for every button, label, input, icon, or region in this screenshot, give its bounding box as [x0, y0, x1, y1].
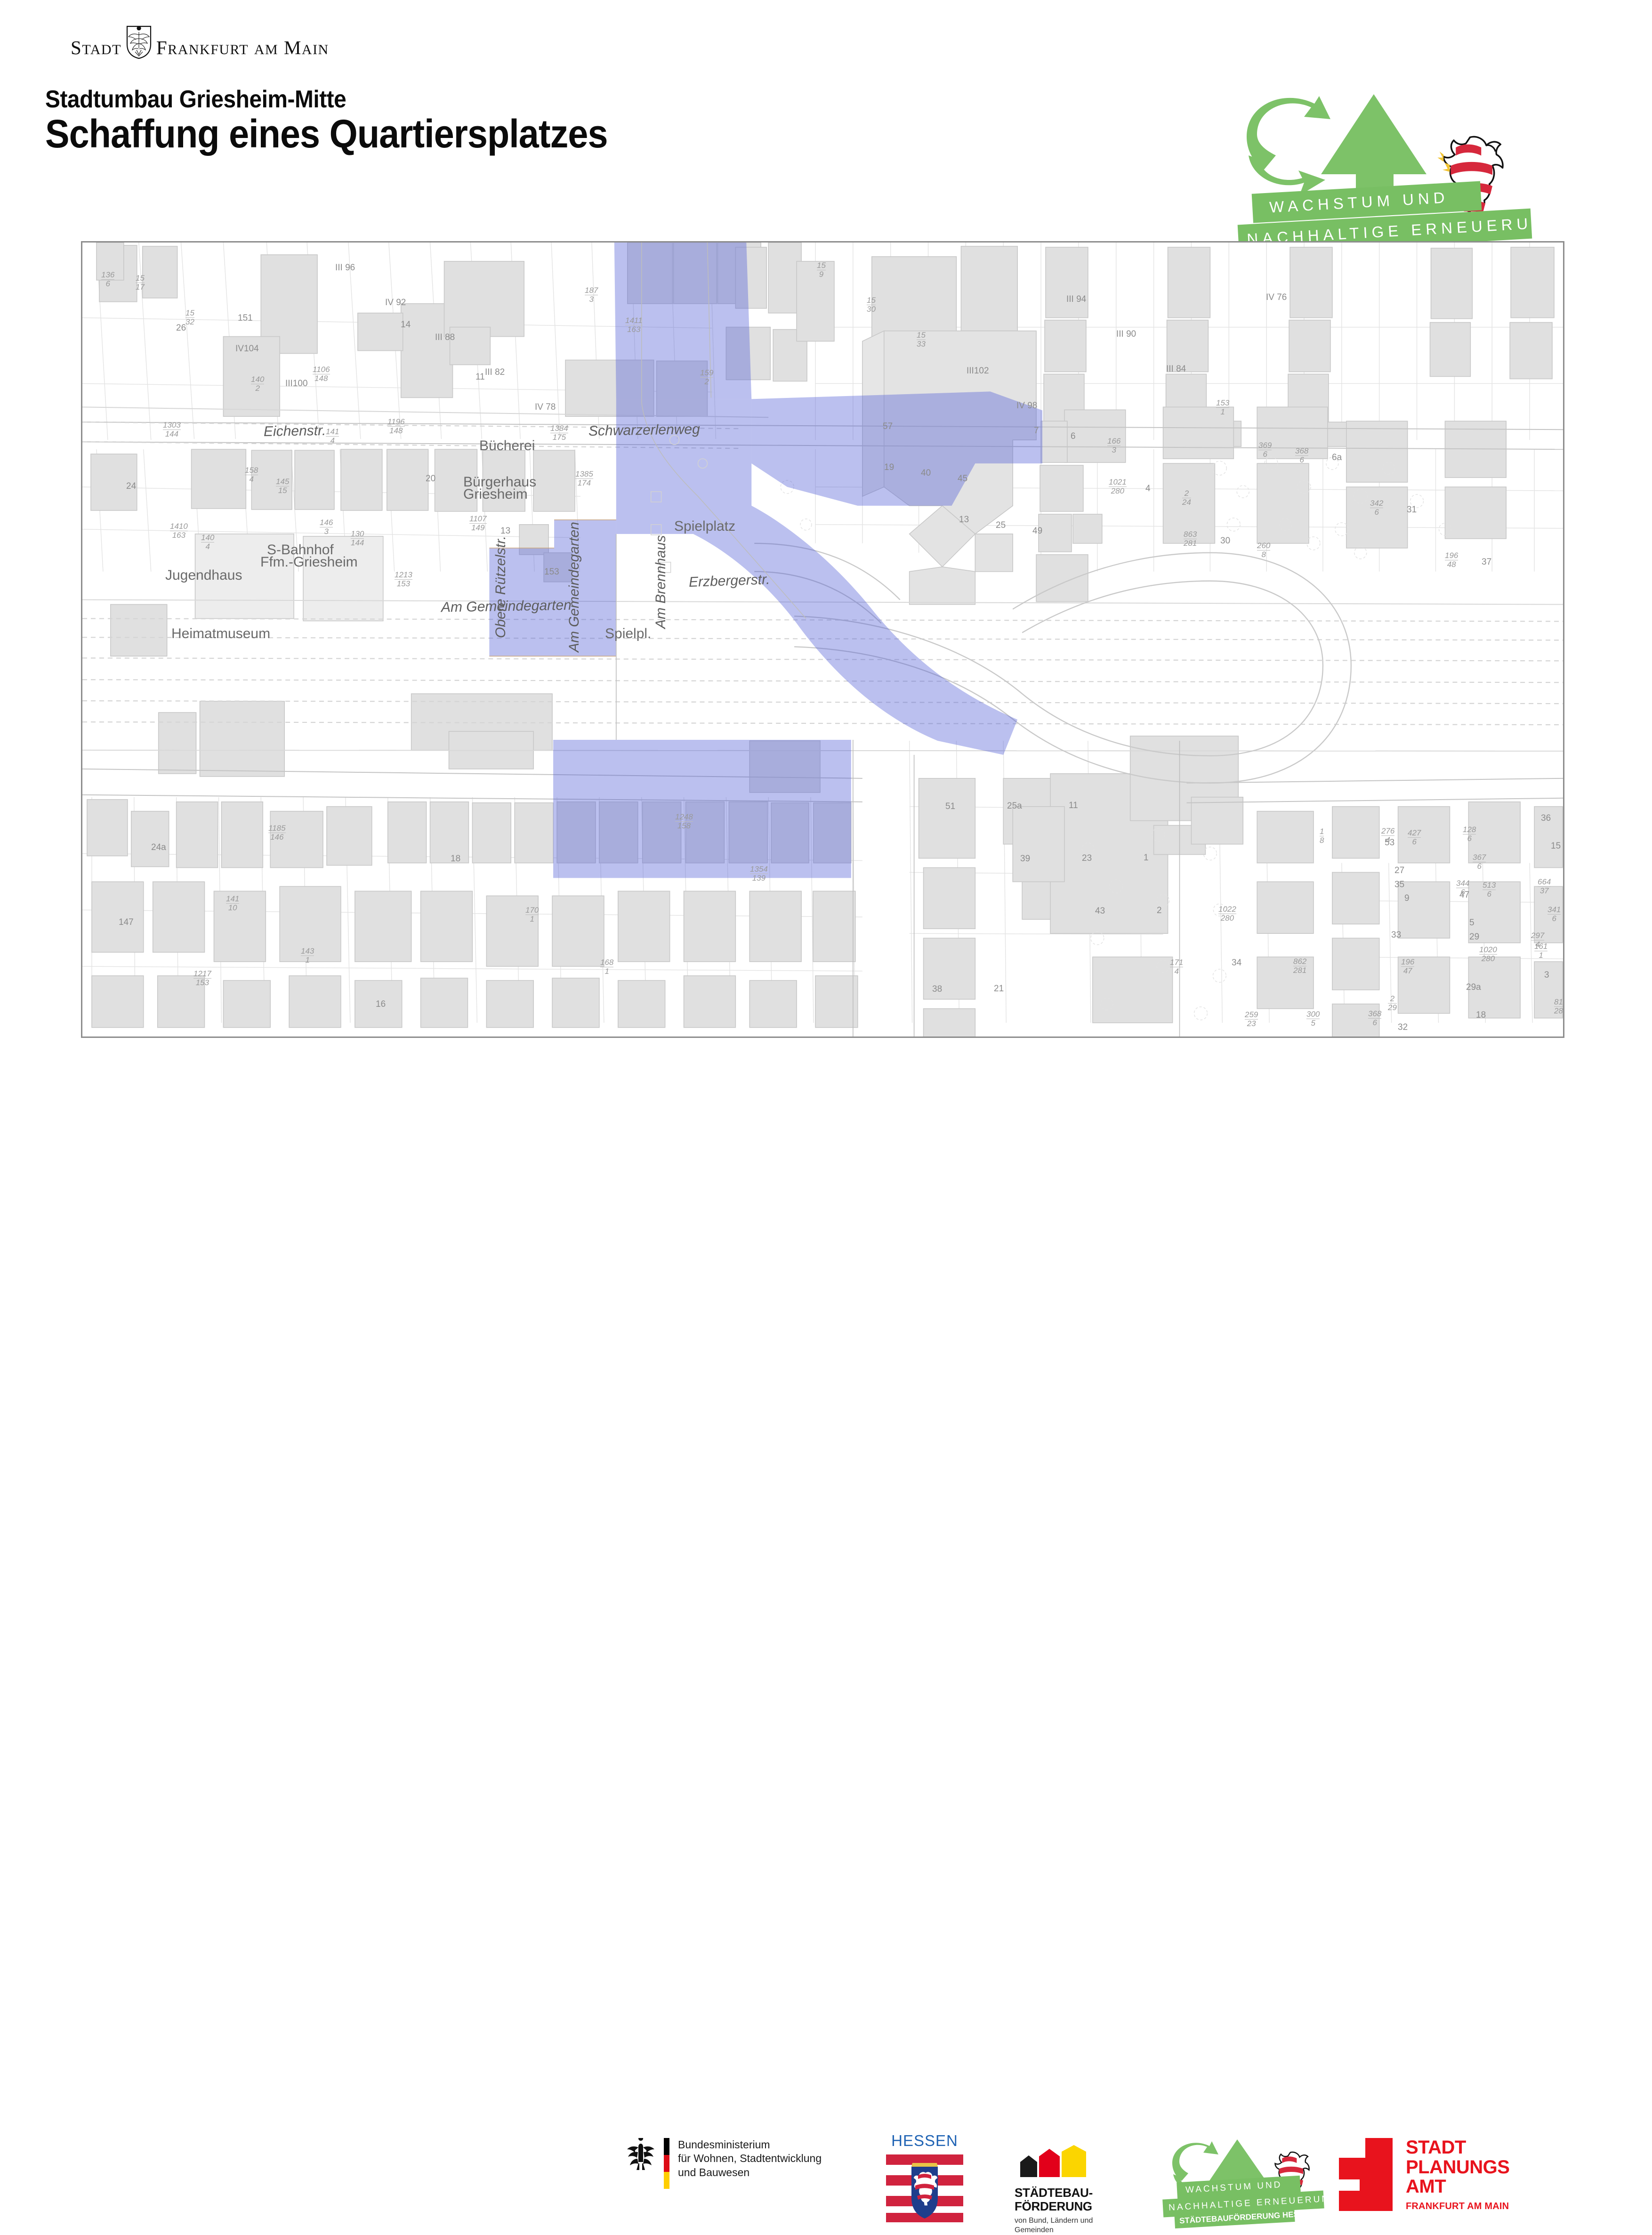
parcel-number: 21 [994, 984, 1004, 994]
parcel-number: III 94 [1066, 294, 1086, 305]
parcel-number: 11 [475, 372, 485, 382]
parcel-number: 15 [1551, 841, 1561, 851]
parcel-number: 1584 [245, 466, 258, 484]
parcel-number: 13 [959, 515, 969, 525]
parcel-number: 25a [1007, 801, 1022, 811]
bmwsb-line2: für Wohnen, Stadtentwicklung [678, 2152, 822, 2165]
parcel-number: 6 [1071, 431, 1076, 442]
parcel-number: 151 [238, 313, 253, 324]
parcel-number: 1404 [201, 534, 214, 551]
parcel-number: IV 76 [1266, 292, 1287, 303]
parcel-number: 9 [1404, 893, 1410, 904]
parcel-number: 26 [176, 323, 186, 333]
parcel-number: 2 [1157, 906, 1162, 916]
parcel-number: 3446 [1456, 879, 1469, 897]
parcel-number: 2608 [1257, 542, 1270, 559]
parcel-number: 32 [1398, 1022, 1408, 1033]
parcel-number: 24 [126, 481, 136, 492]
parcel-number: IV 78 [535, 402, 556, 413]
parcel-number: 7 [1034, 426, 1039, 436]
parcel-number: 33 [1391, 930, 1401, 940]
parcel-number: 1248158 [675, 813, 693, 830]
parcel-number: III 90 [1116, 329, 1136, 340]
parcel-number: 3426 [1370, 499, 1383, 517]
parcel-number: 20 [426, 474, 435, 484]
parcel-number: 1701 [525, 906, 539, 923]
place-label-buecherei: Bücherei [479, 438, 535, 454]
street-label-am-brennhaus: Am Brennhaus [653, 535, 669, 629]
parcel-number: III 82 [485, 367, 505, 378]
street-label-erzbergerstr: Erzbergerstr. [688, 572, 770, 591]
spa-line-4: FRANKFURT AM MAIN [1406, 2201, 1509, 2212]
cadastral-map[interactable]: Eichenstr. Schwarzerlenweg Am Gemeindega… [81, 241, 1564, 1038]
parcel-number: 1431 [301, 947, 314, 964]
parcel-number: 3696 [1258, 441, 1272, 459]
parcel-number: 37 [1482, 557, 1491, 567]
parcel-number: 1213153 [395, 571, 412, 588]
parcel-number: 1385174 [575, 470, 593, 487]
parcel-number: 27 [1394, 866, 1404, 876]
three-houses-icon [1015, 2145, 1090, 2178]
parcel-number: 3676 [1473, 853, 1486, 871]
staedtebau-sub-2: Gemeinden [1015, 2226, 1128, 2235]
parcel-number: 2974 [1531, 931, 1544, 949]
parcel-number: 3005 [1306, 1010, 1320, 1028]
parcel-number: 1530 [867, 296, 876, 314]
parcel-number: 34 [1232, 958, 1241, 968]
place-label-ffm-griesheim: Ffm.-Griesheim [260, 554, 358, 570]
bmwsb-line1: Bundesministerium [678, 2138, 822, 2152]
parcel-number: 1873 [585, 286, 598, 304]
parcel-number: 1022280 [1218, 905, 1236, 923]
hessen-title: HESSEN [882, 2132, 967, 2150]
street-label-schwarzerlenweg: Schwarzerlenweg [588, 421, 700, 439]
bmwsb-logo: Bundesministerium für Wohnen, Stadtentwi… [626, 2138, 852, 2204]
parcel-number: 1714 [1170, 958, 1183, 976]
parcel-number: 147 [119, 917, 134, 928]
parcel-number: 19648 [1445, 551, 1458, 569]
wachstum-footer-logo: WACHSTUM UND NACHHALTIGE ERNEUERUNG STÄD… [1158, 2136, 1342, 2220]
parcel-number: 3686 [1295, 447, 1308, 464]
parcel-number: 29a [1466, 982, 1481, 993]
parcel-number: 6a [1332, 453, 1342, 463]
parcel-number: 1185146 [268, 824, 286, 842]
parcel-number: 229 [1388, 995, 1397, 1012]
parcel-number: 1533 [917, 331, 926, 348]
parcel-number: 1410163 [170, 522, 188, 540]
parcel-number: 36 [1541, 813, 1551, 824]
parcel-number: 49 [1032, 526, 1042, 536]
parcel-number: 18 [1320, 827, 1324, 845]
parcel-number: 1303144 [163, 421, 181, 438]
city-logo-text-right: FRANKFURT AM MAIN [156, 38, 329, 57]
place-label-griesheim: Griesheim [463, 486, 528, 502]
parcel-number: 3416 [1547, 906, 1561, 923]
street-label-eichenstr: Eichenstr. [264, 423, 326, 440]
parcel-number: 130144 [351, 530, 364, 547]
parcel-number: 1020280 [1479, 946, 1497, 963]
parcel-number: 1531 [1216, 399, 1229, 416]
parcel-number: 16 [376, 999, 386, 1010]
parcel-number: IV104 [235, 344, 259, 354]
stadtplanungsamt-logo: STADT PLANUNGS AMT FRANKFURT AM MAIN [1337, 2138, 1544, 2213]
parcel-number: 14515 [276, 478, 289, 495]
parcel-number: 1532 [185, 309, 194, 326]
parcel-number: 45 [958, 474, 967, 484]
parcel-number: 14110 [226, 895, 239, 912]
parcel-number: 1021280 [1109, 478, 1127, 495]
parcel-number: 1402 [251, 375, 264, 393]
spa-line-3: AMT [1406, 2177, 1509, 2197]
bmwsb-text: Bundesministerium für Wohnen, Stadtentwi… [678, 2138, 822, 2179]
parcel-number: 5136 [1483, 881, 1496, 899]
parcel-number: 1414 [326, 428, 339, 445]
footer-logos: Bundesministerium für Wohnen, Stadtentwi… [0, 1062, 1652, 1168]
page-subtitle: Stadtumbau Griesheim-Mitte [45, 85, 346, 113]
parcel-number: 24a [151, 842, 166, 853]
street-label-am-gemeindegarten-2: Am Gemeindegarten [566, 522, 582, 652]
page-title: Schaffung eines Quartiersplatzes [45, 111, 608, 157]
frankfurt-eagle-shield-icon [126, 25, 152, 59]
parcel-number: III100 [285, 379, 308, 389]
parcel-number: 1106148 [313, 365, 330, 383]
city-logo: STADT FRANKFURT AM MAIN [71, 24, 372, 57]
parcel-number: 1411163 [625, 316, 643, 334]
city-logo-text-left: STADT [71, 38, 121, 57]
parcel-number: III 84 [1166, 364, 1186, 374]
staedtebau-title-2: FÖRDERUNG [1015, 2200, 1128, 2213]
parcel-number: 1681 [600, 958, 613, 976]
parcel-number: 3686 [1368, 1010, 1381, 1027]
parcel-number: 18 [1476, 1010, 1486, 1020]
parcel-number: 51 [945, 802, 955, 812]
parcel-number: 153 [544, 567, 559, 577]
parcel-number: 18 [451, 854, 460, 864]
hessen-coat-of-arms-icon [882, 2153, 967, 2223]
parcel-number: 1107149 [469, 515, 487, 532]
parcel-number: 23 [1082, 853, 1092, 864]
bundesadler-icon [626, 2138, 655, 2174]
street-label-obere-ruetzelstr: Obere Rützelstr. [493, 536, 509, 638]
parcel-number: 19647 [1401, 958, 1414, 975]
parcel-number: 40 [921, 468, 931, 478]
stadtplanungsamt-mark-icon [1337, 2138, 1394, 2211]
parcel-number: 43 [1095, 906, 1105, 916]
spa-line-1: STADT [1406, 2138, 1509, 2158]
spa-line-2: PLANUNGS [1406, 2158, 1509, 2178]
place-label-jugendhaus: Jugendhaus [165, 567, 242, 583]
place-label-heimatmuseum: Heimatmuseum [171, 626, 270, 642]
parcel-number: 13 [500, 526, 510, 536]
parcel-number: 1463 [320, 518, 333, 536]
staedtebau-title-1: STÄDTEBAU- [1015, 2186, 1128, 2200]
parcel-number: 66437 [1538, 878, 1551, 895]
parcel-number: 4276 [1408, 829, 1421, 846]
parcel-number: 25 [996, 520, 1006, 531]
bmwsb-line3: und Bauwesen [678, 2166, 822, 2179]
parcel-number: 813281 [1554, 998, 1564, 1015]
parcel-number: 19 [884, 462, 894, 473]
stadtplanungsamt-text: STADT PLANUNGS AMT FRANKFURT AM MAIN [1406, 2138, 1509, 2213]
parcel-number: 1217153 [193, 970, 211, 987]
parcel-number: 1366 [101, 271, 114, 288]
german-flag-bar [664, 2138, 669, 2189]
parcel-number: 39 [1020, 854, 1030, 864]
staedtebaufoerderung-logo: STÄDTEBAU- FÖRDERUNG von Bund, Ländern u… [1015, 2145, 1128, 2225]
parcel-number: 1354139 [750, 865, 768, 883]
parcel-number: 159 [817, 261, 826, 279]
parcel-number: 1592 [700, 369, 713, 386]
parcel-number: 862281 [1293, 957, 1306, 975]
parcel-number: 38 [932, 984, 942, 995]
parcel-number: IV 98 [1016, 401, 1037, 411]
parcel-number: 57 [883, 421, 893, 432]
parcel-number: 35 [1394, 880, 1404, 890]
place-label-spielpl: Spielpl. [605, 626, 651, 642]
parcel-number: 1517 [136, 274, 145, 292]
parcel-number: 1384175 [550, 424, 568, 442]
parcel-number: III 88 [435, 332, 455, 343]
parcel-number: 25923 [1245, 1011, 1258, 1028]
parcel-number: 29 [1469, 932, 1479, 942]
parcel-number: 1 [1144, 853, 1149, 863]
parcel-number: 2764 [1381, 827, 1394, 844]
parcel-number: 31 [1407, 505, 1417, 515]
hessen-logo: HESSEN [882, 2132, 967, 2226]
parcel-number: 30 [1220, 536, 1230, 546]
parcel-number: 5 [1469, 918, 1475, 928]
parcel-number: 14 [401, 320, 411, 330]
parcel-number: 4 [1145, 484, 1151, 494]
parcel-number: 11 [1069, 801, 1078, 811]
staedtebau-sub-1: von Bund, Ländern und [1015, 2216, 1128, 2226]
parcel-number: 224 [1182, 489, 1191, 507]
parcel-number: 863281 [1184, 530, 1197, 548]
parcel-number: IV 92 [385, 298, 406, 308]
parcel-number: 3 [1544, 970, 1549, 980]
parcel-number: 1196148 [387, 418, 405, 435]
parcel-number: 1663 [1107, 437, 1120, 454]
map-graphic [82, 243, 1563, 1038]
parcel-number: III 96 [335, 263, 355, 273]
parcel-number: III102 [967, 366, 989, 376]
place-label-spielplatz: Spielplatz [674, 518, 735, 534]
parcel-number: 1286 [1463, 826, 1476, 843]
